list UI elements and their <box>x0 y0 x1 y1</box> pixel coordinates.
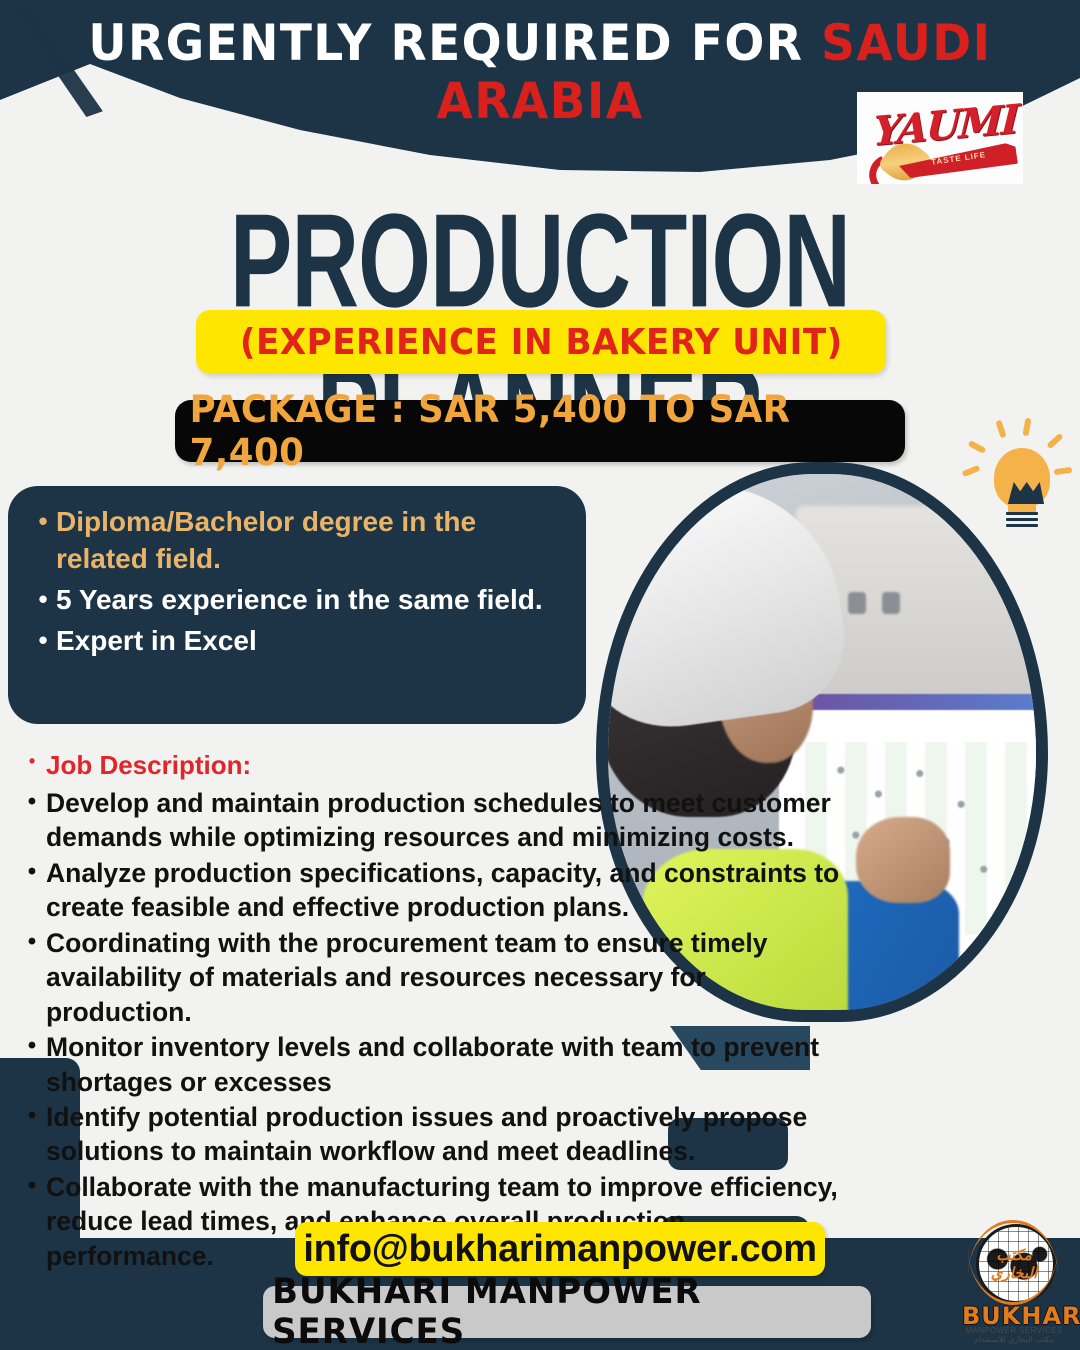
contact-email-text: info@bukharimanpower.com <box>303 1228 816 1271</box>
job-description-item: • Develop and maintain production schedu… <box>18 786 856 855</box>
lightbulb-base <box>1006 512 1038 530</box>
job-description-heading: • Job Description: <box>18 750 856 781</box>
requirement-item: • Diploma/Bachelor degree in the related… <box>30 504 564 578</box>
bullet-icon: • <box>18 926 46 957</box>
experience-badge-label: (EXPERIENCE IN BAKERY UNIT) <box>240 322 843 363</box>
job-description-text: Coordinating with the procurement team t… <box>46 926 856 1029</box>
lightbulb-icon <box>958 424 1074 544</box>
bullet-icon: • <box>30 623 56 657</box>
job-description-item: • Monitor inventory levels and collabora… <box>18 1030 856 1099</box>
job-description-item: • Identify potential production issues a… <box>18 1100 856 1169</box>
photo-machine-detail <box>882 592 900 614</box>
job-description-heading-label: Job Description: <box>46 750 251 781</box>
lightbulb-ray <box>1046 433 1063 450</box>
contact-email-box[interactable]: info@bukharimanpower.com <box>295 1222 825 1276</box>
requirement-item: • Expert in Excel <box>30 623 564 660</box>
company-name-box: BUKHARI MANPOWER SERVICES <box>263 1286 871 1338</box>
photo-machine-detail <box>848 592 866 614</box>
lightbulb-ray <box>1054 467 1073 475</box>
header-headline-white: URGENTLY REQUIRED FOR <box>88 14 803 72</box>
requirement-text: Diploma/Bachelor degree in the related f… <box>56 504 564 578</box>
bullet-icon: • <box>18 1170 46 1201</box>
requirement-text: Expert in Excel <box>56 623 257 660</box>
job-description-text: Analyze production specifications, capac… <box>46 856 856 925</box>
bullet-icon: • <box>30 504 56 538</box>
salary-package-bar: PACKAGE : SAR 5,400 TO SAR 7,400 <box>175 400 905 462</box>
job-advertisement-poster: URGENTLY REQUIRED FOR SAUDI ARABIA TASTE… <box>0 0 1080 1350</box>
job-description-text: Develop and maintain production schedule… <box>46 786 856 855</box>
lightbulb-filament <box>1008 482 1044 504</box>
logo-subtitle-arabic: مكتب البخاري للاستقدام <box>962 1335 1066 1344</box>
job-description-item: • Analyze production specifications, cap… <box>18 856 856 925</box>
requirement-text: 5 Years experience in the same field. <box>56 582 543 619</box>
bullet-icon: • <box>18 856 46 887</box>
yaumi-logo: TASTE LIFE YAUMI <box>857 92 1023 184</box>
requirement-item: • 5 Years experience in the same field. <box>30 582 564 619</box>
lightbulb-ray <box>962 465 981 477</box>
company-name-text: BUKHARI MANPOWER SERVICES <box>272 1272 862 1350</box>
job-description-text: Identify potential production issues and… <box>46 1100 856 1169</box>
requirements-card: • Diploma/Bachelor degree in the related… <box>8 486 586 724</box>
bullet-icon: • <box>18 1030 46 1061</box>
bullet-icon: • <box>18 1100 46 1131</box>
bullet-icon: • <box>18 786 46 817</box>
lightbulb-ray <box>968 440 987 454</box>
logo-subtitle: MANPOWER SERVICES <box>962 1326 1066 1335</box>
logo-arabic-script: مكتب البخاري <box>982 1246 1046 1282</box>
bullet-icon: • <box>30 582 56 616</box>
job-description-item: • Coordinating with the procurement team… <box>18 926 856 1029</box>
job-description-section: • Job Description: • Develop and maintai… <box>18 750 856 1274</box>
bullet-icon: • <box>18 750 46 773</box>
photo-worker-hand <box>856 817 950 903</box>
experience-badge: (EXPERIENCE IN BAKERY UNIT) <box>196 310 886 374</box>
bukhari-logo: مكتب البخاري BUKHARI MANPOWER SERVICES م… <box>952 1220 1074 1346</box>
job-description-text: Monitor inventory levels and collaborate… <box>46 1030 856 1099</box>
